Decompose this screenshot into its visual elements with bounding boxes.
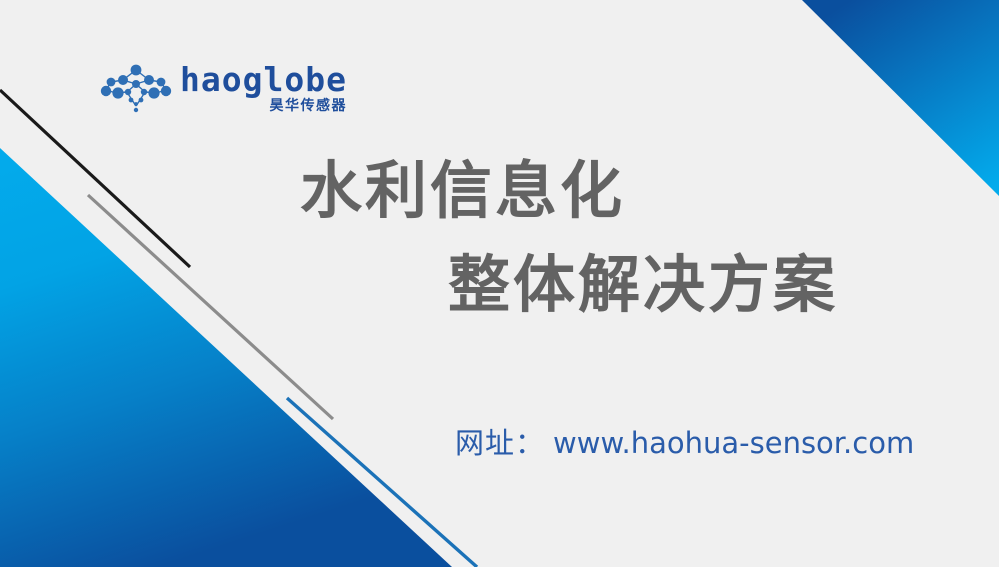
haoglobe-network-dots-logo-icon <box>98 60 174 116</box>
title-line-2: 整体解决方案 <box>448 254 900 316</box>
diagonal-rule-blue <box>287 398 477 567</box>
title-line-1: 水利信息化 <box>300 160 900 222</box>
website-url[interactable]: www.haohua-sensor.com <box>553 426 914 460</box>
diagonal-rule-gray <box>88 195 333 419</box>
website-label: 网址： <box>455 420 545 462</box>
website-line: 网址： www.haohua-sensor.com <box>455 420 914 462</box>
logo-text-block: haoglobe 昊华传感器 <box>180 63 347 113</box>
company-logo: haoglobe 昊华传感器 <box>98 57 313 119</box>
logo-subtitle: 昊华传感器 <box>269 99 347 113</box>
logo-wordmark: haoglobe <box>180 63 347 96</box>
presentation-slide: haoglobe 昊华传感器 水利信息化 整体解决方案 网址： www.haoh… <box>0 0 999 567</box>
page-title: 水利信息化 整体解决方案 <box>300 160 900 316</box>
